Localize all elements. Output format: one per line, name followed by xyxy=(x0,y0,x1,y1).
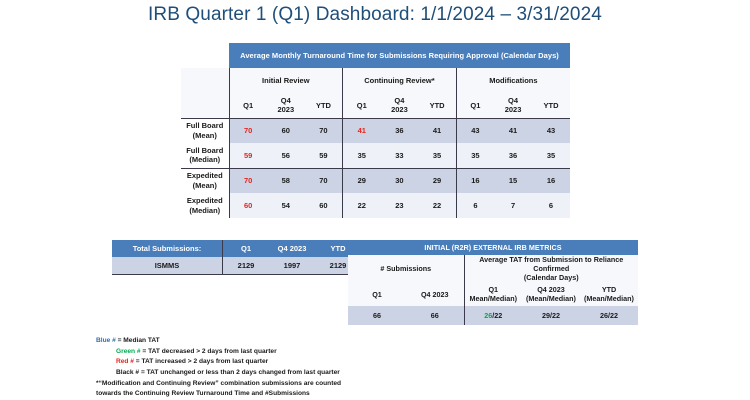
r2r-group-header-row: # Submissions Average TAT from Submissio… xyxy=(348,255,638,282)
tat-title-row: Average Monthly Turnaround Time for Subm… xyxy=(181,43,570,68)
subhead-ir-q1: Q1 xyxy=(229,93,267,118)
table-row: ISMMS 2129 1997 2129 xyxy=(112,257,361,275)
row-label-line1: Full Board xyxy=(186,121,223,130)
r2r-col-tat-q1-line1: Q1 xyxy=(488,285,498,294)
cell-fbmed-ir-ytd: 59 xyxy=(305,143,343,168)
cell-expmean-cr-ytd: 29 xyxy=(418,168,456,193)
subhead-cr-q4: Q4 2023 xyxy=(381,93,419,118)
table-row: 66 66 26/22 29/22 26/22 xyxy=(348,306,638,325)
row-label-full-board-mean: Full Board (Mean) xyxy=(181,118,229,143)
r2r-col-tat-q4-line1: Q4 2023 xyxy=(537,285,565,294)
totals-row-label-ismms: ISMMS xyxy=(112,257,223,275)
subhead-ir-q4: Q4 2023 xyxy=(267,93,305,118)
legend-item-red: Red # = TAT increased > 2 days from last… xyxy=(96,357,426,368)
legend-text-blue: = Median TAT xyxy=(116,337,160,344)
row-label-line2: (Median) xyxy=(189,155,220,164)
cell-fbmed-mod-ytd: 35 xyxy=(532,143,570,168)
turnaround-time-table: Average Monthly Turnaround Time for Subm… xyxy=(181,43,570,218)
table-row: Full Board (Median) 59 56 59 35 33 35 35… xyxy=(181,143,570,168)
r2r-tat-line2: (Calendar Days) xyxy=(524,273,579,282)
cell-expmean-ir-q4: 58 xyxy=(267,168,305,193)
cell-expmed-cr-ytd: 22 xyxy=(418,193,456,218)
group-header-modifications: Modifications xyxy=(456,68,570,93)
cell-expmed-ir-ytd: 60 xyxy=(305,193,343,218)
cell-expmean-mod-q4: 15 xyxy=(494,168,532,193)
r2r-col-sub-q1: Q1 xyxy=(348,282,406,306)
legend-item-black: Black # = TAT unchanged or less than 2 d… xyxy=(96,368,426,379)
r2r-cell-tat-q1: 26/22 xyxy=(464,306,522,325)
tat-table-title: Average Monthly Turnaround Time for Subm… xyxy=(229,43,570,68)
subhead-ir-q4-top: Q4 xyxy=(281,96,291,105)
r2r-col-tat-ytd-line2: (Mean/Median) xyxy=(584,294,634,303)
r2r-col-sub-q4: Q4 2023 xyxy=(406,282,464,306)
legend: Blue # = Median TAT Green # = TAT decrea… xyxy=(96,336,426,400)
cell-expmean-ir-ytd: 70 xyxy=(305,168,343,193)
legend-text-black: = TAT unchanged or less than 2 days chan… xyxy=(139,369,340,376)
subhead-mod-q1: Q1 xyxy=(456,93,494,118)
cell-fbmean-mod-ytd: 43 xyxy=(532,118,570,143)
cell-expmean-cr-q4: 30 xyxy=(381,168,419,193)
row-label-expedited-median: Expedited (Median) xyxy=(181,193,229,218)
cell-expmed-mod-ytd: 6 xyxy=(532,193,570,218)
r2r-col-tat-ytd: YTD (Mean/Median) xyxy=(580,282,638,306)
r2r-tat-line1: Average TAT from Submission to Reliance … xyxy=(479,255,623,273)
legend-key-blue: Blue # xyxy=(96,337,116,344)
totals-header-q4: Q4 2023 xyxy=(269,240,315,257)
r2r-table-title: INITIAL (R2R) EXTERNAL IRB METRICS xyxy=(348,240,638,255)
r2r-group-header-submissions: # Submissions xyxy=(348,255,464,282)
r2r-column-header-row: Q1 Q4 2023 Q1 Mean/Median) Q4 2023 (Mean… xyxy=(348,282,638,306)
cell-expmean-cr-q1: 29 xyxy=(343,168,381,193)
cell-expmed-mod-q1: 6 xyxy=(456,193,494,218)
legend-text-green: = TAT decreased > 2 days from last quart… xyxy=(141,348,277,355)
total-submissions-table: Total Submissions: Q1 Q4 2023 YTD ISMMS … xyxy=(112,240,361,275)
subhead-ir-ytd: YTD xyxy=(305,93,343,118)
cell-fbmean-mod-q1: 43 xyxy=(456,118,494,143)
r2r-external-irb-metrics-table: INITIAL (R2R) EXTERNAL IRB METRICS # Sub… xyxy=(348,240,638,325)
cell-fbmean-ir-q1: 70 xyxy=(229,118,267,143)
legend-text-red: = TAT increased > 2 days from last quart… xyxy=(134,358,268,365)
tat-group-corner xyxy=(181,68,229,93)
row-label-line1: Expedited xyxy=(187,171,223,180)
subhead-ir-q4-bottom: 2023 xyxy=(277,105,294,114)
cell-fbmed-cr-q1: 35 xyxy=(343,143,381,168)
r2r-group-header-tat: Average TAT from Submission to Reliance … xyxy=(464,255,638,282)
tat-corner-cell xyxy=(181,43,229,68)
r2r-cell-tat-ytd: 26/22 xyxy=(580,306,638,325)
subhead-cr-ytd: YTD xyxy=(418,93,456,118)
cell-expmean-mod-ytd: 16 xyxy=(532,168,570,193)
totals-cell-q4: 1997 xyxy=(269,257,315,275)
cell-fbmean-cr-q4: 36 xyxy=(381,118,419,143)
subhead-mod-q4: Q4 2023 xyxy=(494,93,532,118)
cell-fbmed-mod-q4: 36 xyxy=(494,143,532,168)
legend-key-black: Black # xyxy=(116,369,139,376)
tat-group-header-row: Initial Review Continuing Review* Modifi… xyxy=(181,68,570,93)
cell-expmed-ir-q4: 54 xyxy=(267,193,305,218)
page-title: IRB Quarter 1 (Q1) Dashboard: 1/1/2024 –… xyxy=(0,4,750,26)
cell-expmed-mod-q4: 7 xyxy=(494,193,532,218)
legend-item-blue: Blue # = Median TAT xyxy=(96,336,426,347)
tat-sub-corner xyxy=(181,93,229,118)
cell-fbmean-ir-ytd: 70 xyxy=(305,118,343,143)
row-label-line1: Expedited xyxy=(187,196,223,205)
tat-sub-header-row: Q1 Q4 2023 YTD Q1 Q4 2023 YTD Q1 Q4 2023… xyxy=(181,93,570,118)
cell-fbmed-cr-ytd: 35 xyxy=(418,143,456,168)
r2r-col-tat-q1: Q1 Mean/Median) xyxy=(464,282,522,306)
subhead-cr-q4-bottom: 2023 xyxy=(391,105,408,114)
totals-header-q1: Q1 xyxy=(223,240,270,257)
cell-fbmean-cr-q1: 41 xyxy=(343,118,381,143)
subhead-cr-q4-top: Q4 xyxy=(394,96,404,105)
subhead-cr-q1: Q1 xyxy=(343,93,381,118)
r2r-col-tat-q1-line2: Mean/Median) xyxy=(469,294,517,303)
cell-expmed-cr-q4: 23 xyxy=(381,193,419,218)
legend-footnote-line1: *“Modification and Continuing Review” co… xyxy=(96,379,426,390)
subhead-mod-q4-top: Q4 xyxy=(508,96,518,105)
row-label-line1: Full Board xyxy=(186,146,223,155)
cell-fbmed-ir-q1: 59 xyxy=(229,143,267,168)
cell-fbmed-ir-q4: 56 xyxy=(267,143,305,168)
table-row: Expedited (Mean) 70 58 70 29 30 29 16 15… xyxy=(181,168,570,193)
r2r-cell-sub-q1: 66 xyxy=(348,306,406,325)
r2r-title-row: INITIAL (R2R) EXTERNAL IRB METRICS xyxy=(348,240,638,255)
cell-expmed-ir-q1: 60 xyxy=(229,193,267,218)
totals-header-row: Total Submissions: Q1 Q4 2023 YTD xyxy=(112,240,361,257)
group-header-initial-review: Initial Review xyxy=(229,68,343,93)
legend-item-green: Green # = TAT decreased > 2 days from la… xyxy=(96,347,426,358)
r2r-col-tat-q4: Q4 2023 (Mean/Median) xyxy=(522,282,580,306)
row-label-expedited-mean: Expedited (Mean) xyxy=(181,168,229,193)
cell-fbmean-ir-q4: 60 xyxy=(267,118,305,143)
table-row: Expedited (Median) 60 54 60 22 23 22 6 7… xyxy=(181,193,570,218)
table-row: Full Board (Mean) 70 60 70 41 36 41 43 4… xyxy=(181,118,570,143)
row-label-line2: (Mean) xyxy=(193,131,217,140)
subhead-mod-ytd: YTD xyxy=(532,93,570,118)
r2r-cell-tat-q4: 29/22 xyxy=(522,306,580,325)
cell-fbmed-cr-q4: 33 xyxy=(381,143,419,168)
cell-expmean-ir-q1: 70 xyxy=(229,168,267,193)
group-header-continuing-review: Continuing Review* xyxy=(343,68,457,93)
cell-expmed-cr-q1: 22 xyxy=(343,193,381,218)
legend-footnote-line2: towards the Continuing Review Turnaround… xyxy=(96,389,426,400)
legend-key-red: Red # xyxy=(116,358,134,365)
totals-header-label: Total Submissions: xyxy=(112,240,223,257)
subhead-mod-q4-bottom: 2023 xyxy=(505,105,522,114)
row-label-line2: (Median) xyxy=(189,206,220,215)
r2r-col-tat-ytd-line1: YTD xyxy=(602,285,616,294)
cell-expmean-mod-q1: 16 xyxy=(456,168,494,193)
cell-fbmean-mod-q4: 41 xyxy=(494,118,532,143)
cell-fbmed-mod-q1: 35 xyxy=(456,143,494,168)
row-label-full-board-median: Full Board (Median) xyxy=(181,143,229,168)
r2r-col-tat-q4-line2: (Mean/Median) xyxy=(526,294,576,303)
row-label-line2: (Mean) xyxy=(193,181,217,190)
totals-cell-q1: 2129 xyxy=(223,257,270,275)
r2r-cell-sub-q4: 66 xyxy=(406,306,464,325)
r2r-cell-tat-q1-median: /22 xyxy=(492,311,502,320)
cell-fbmean-cr-ytd: 41 xyxy=(418,118,456,143)
legend-key-green: Green # xyxy=(116,348,141,355)
